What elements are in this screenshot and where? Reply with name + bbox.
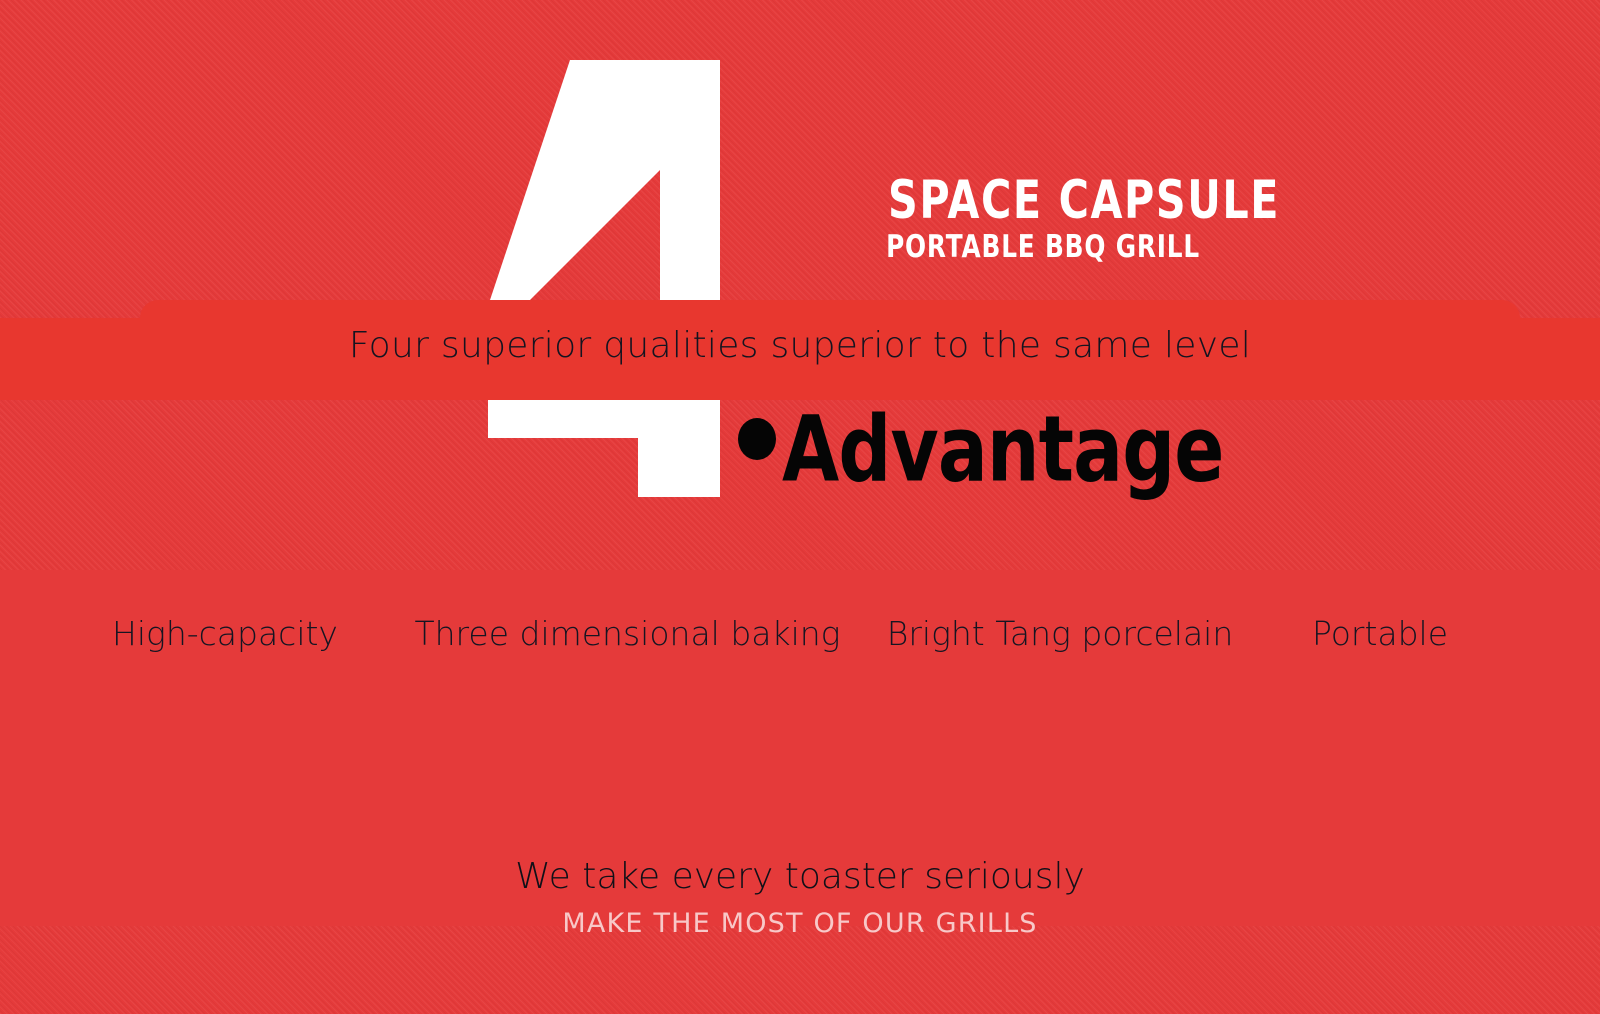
brand-main-text: SPACE CAPSULE	[888, 176, 1200, 227]
brand-sub-text: PORTABLE BBQ GRILL	[880, 231, 1200, 264]
brand-name-block: SPACE CAPSULE PORTABLE BBQ GRILL	[800, 176, 1200, 263]
feature-label-bright-tang-porcelain: Bright Tang porcelain	[865, 606, 1255, 662]
banner-headline: Four superior qualities superior to the …	[0, 325, 1600, 366]
feature-label-row: High-capacity Three dimensional baking B…	[0, 606, 1600, 662]
footer-subtagline: MAKE THE MOST OF OUR GRILLS	[0, 908, 1600, 939]
footer-tagline: We take every toaster seriously	[0, 856, 1600, 897]
feature-label-high-capacity: High-capacity	[60, 606, 390, 662]
bullet-dot-icon	[738, 418, 776, 460]
feature-label-three-dimensional-baking: Three dimensional baking	[400, 606, 855, 662]
numeral-four-graphic	[470, 50, 770, 510]
promo-poster: SPACE CAPSULE PORTABLE BBQ GRILL Four su…	[0, 0, 1600, 1014]
advantage-wordmark: Advantage	[782, 404, 1224, 495]
feature-label-portable: Portable	[1265, 606, 1495, 662]
